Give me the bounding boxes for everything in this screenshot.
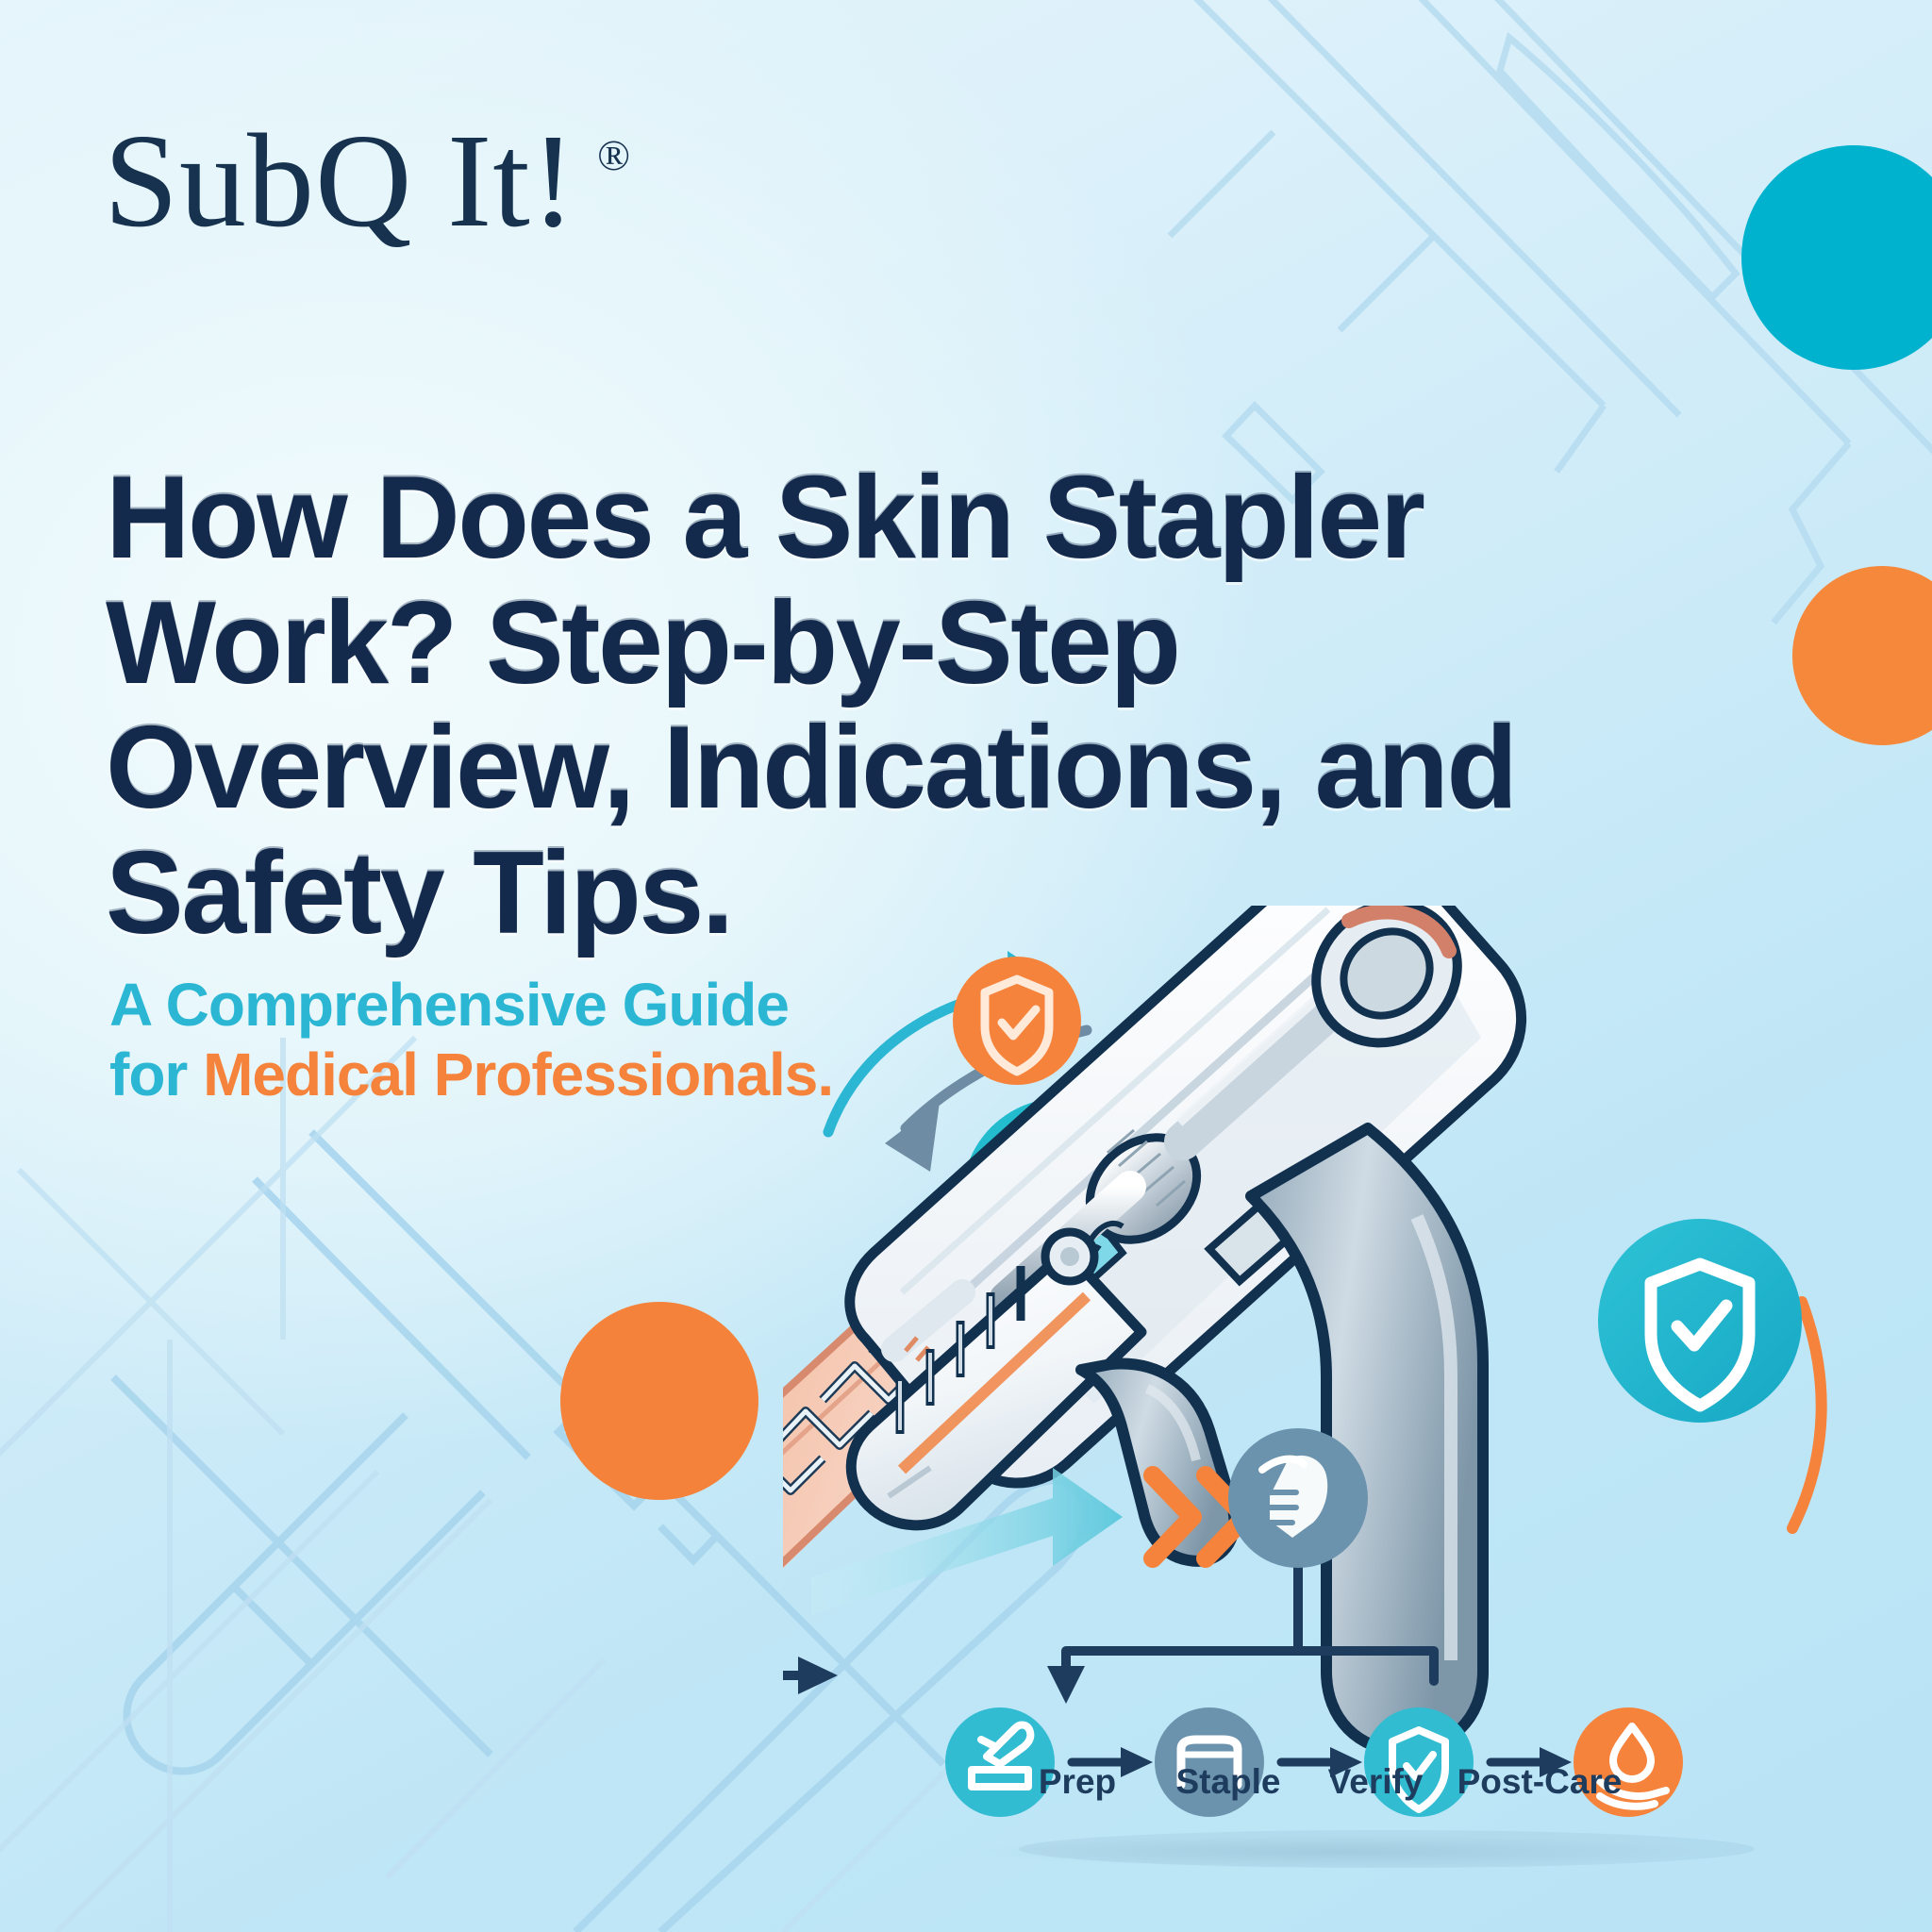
decorative-circle-orange-left — [560, 1302, 758, 1500]
workflow-label-prep: Prep — [1039, 1762, 1116, 1802]
connector-arrowhead-down — [1047, 1666, 1085, 1704]
brand-logo[interactable]: SubQ It! ® — [104, 113, 630, 247]
headline-line-1: How Does a Skin Stapler — [106, 456, 1483, 581]
headline-line-2: Work? Step-by-Step — [106, 581, 1483, 707]
badge-gloved-hand — [1228, 1428, 1368, 1568]
baseline-shadow — [981, 1836, 1698, 1868]
brand-logo-text: SubQ It! — [104, 113, 576, 247]
badge-shield-cyan — [1598, 1219, 1802, 1423]
connector-arrowhead-left — [798, 1657, 838, 1694]
workflow-labels: Prep Staple Verify Post-Care — [1000, 1762, 1623, 1815]
workflow-label-verify: Verify — [1328, 1762, 1424, 1802]
poster-canvas: SubQ It! ® How Does a Skin Stapler Work?… — [0, 0, 1932, 1932]
subtitle-line-2-highlight: Medical Professionals. — [203, 1041, 833, 1108]
decorative-circle-orange-top — [1792, 566, 1932, 745]
workflow-label-staple: Staple — [1175, 1762, 1280, 1802]
workflow-label-post-care: Post-Care — [1457, 1762, 1623, 1802]
arrow-curved-slate-head — [885, 1102, 940, 1172]
badge-shield-orange-top — [951, 955, 1083, 1087]
decorative-circle-cyan-top — [1741, 145, 1932, 370]
subtitle-line-2-prefix: for — [109, 1041, 203, 1108]
headline-line-3: Overview, Indications, and — [106, 706, 1483, 831]
registered-trademark-icon: ® — [597, 130, 630, 180]
page-title: How Does a Skin Stapler Work? Step-by-St… — [106, 456, 1483, 957]
